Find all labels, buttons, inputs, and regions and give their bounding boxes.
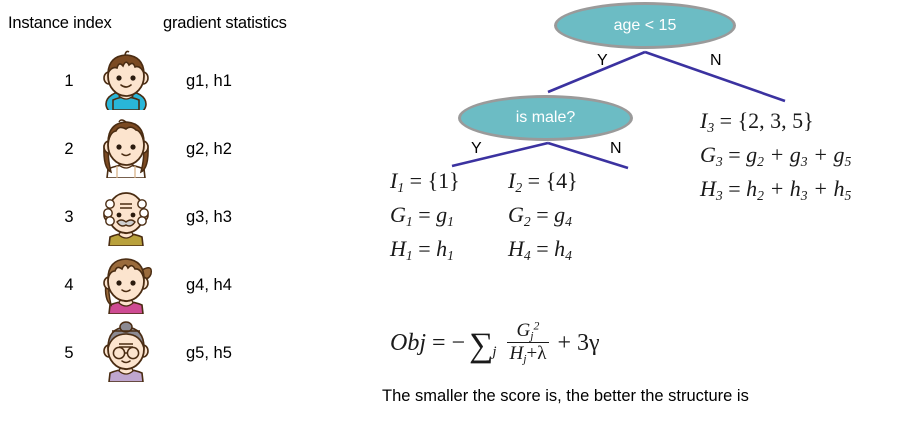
leaf-lhs-sub: 3 — [707, 120, 714, 135]
leaf-line: I2 = {4} — [508, 168, 578, 202]
edge-label-root-no: N — [710, 52, 722, 70]
tree-node-root[interactable]: age < 15 — [554, 2, 736, 49]
leaf-line: G2 = g4 — [508, 202, 578, 236]
table-row: 1 g1, h1 — [0, 48, 360, 112]
leaf-rhs: h2 + h3 + h5 — [746, 176, 851, 201]
woman-avatar — [95, 252, 157, 314]
girl-avatar — [95, 116, 157, 178]
leaf-lhs-sub: 3 — [716, 188, 723, 203]
equals-sign: = — [536, 236, 548, 261]
equals-sign: = — [418, 236, 430, 261]
leaf-lhs-sub: 1 — [397, 180, 404, 195]
edge-label-is-male-yes: Y — [471, 140, 482, 158]
leaf-line: G1 = g1 — [390, 202, 460, 236]
tree-node-root-label: age < 15 — [614, 17, 677, 35]
leaf-lhs-var: G — [508, 202, 524, 227]
leaf-line: I1 = {1} — [390, 168, 460, 202]
leaf-lhs-sub: 3 — [716, 154, 723, 169]
equals-sign: = — [528, 168, 540, 193]
tree-node-is-male[interactable]: is male? — [458, 95, 633, 141]
leaf-lhs-var: H — [700, 176, 716, 201]
table-row: 3 g3, h3 — [0, 184, 360, 248]
fraction-denominator: Hj+λ — [507, 342, 550, 364]
row-gradient-stats: g1, h1 — [186, 72, 232, 91]
objective-equals: = — [432, 330, 446, 357]
row-gradient-stats: g5, h5 — [186, 344, 232, 363]
leaf-lhs-var: H — [508, 236, 524, 261]
leaf-rhs: g2 + g3 + g5 — [746, 142, 851, 167]
leaf-line: G3 = g2 + g3 + g5 — [700, 142, 851, 176]
leaf-rhs: {2, 3, 5} — [738, 108, 814, 133]
caption-text: The smaller the score is, the better the… — [382, 387, 749, 406]
equals-sign: = — [418, 202, 430, 227]
row-index-label: 1 — [52, 72, 86, 91]
row-gradient-stats: g4, h4 — [186, 276, 232, 295]
leaf-lhs-sub: 2 — [515, 180, 522, 195]
leaf-lhs-var: G — [390, 202, 406, 227]
leaf-lhs-sub: 1 — [406, 214, 413, 229]
old-man-avatar — [95, 184, 157, 246]
leaf-lhs-sub: 4 — [524, 248, 531, 263]
leaf-lhs-sub: 1 — [406, 248, 413, 263]
edge-label-root-yes: Y — [597, 52, 608, 70]
leaf-rhs: g1 — [436, 202, 454, 227]
equals-sign: = — [720, 108, 732, 133]
leaf-rhs: h1 — [436, 236, 454, 261]
column-header-gradient-statistics: gradient statistics — [163, 14, 287, 33]
leaf-lhs-var: H — [390, 236, 406, 261]
leaf-line: H4 = h4 — [508, 236, 578, 270]
objective-fraction: Gj2 Hj+λ — [507, 321, 550, 364]
objective-lhs: Obj — [390, 330, 426, 357]
objective-tail: + 3γ — [557, 330, 599, 357]
equals-sign: = — [536, 202, 548, 227]
column-header-instance-index: Instance index — [8, 14, 112, 33]
tree-node-is-male-label: is male? — [516, 109, 576, 127]
leaf-line: I3 = {2, 3, 5} — [700, 108, 851, 142]
summation-symbol: ∑ — [469, 334, 493, 358]
decision-tree-diagram: age < 15 is male? Y N Y N I1 = {1} G1 = … — [360, 0, 920, 421]
objective-minus: − — [452, 330, 466, 357]
edge-label-is-male-no: N — [610, 140, 622, 158]
boy-avatar — [95, 48, 157, 110]
leaf-rhs: g4 — [554, 202, 572, 227]
leaf-line: H3 = h2 + h3 + h5 — [700, 176, 851, 210]
row-gradient-stats: g3, h3 — [186, 208, 232, 227]
leaf-stats-3: I3 = {2, 3, 5} G3 = g2 + g3 + g5 H3 = h2… — [700, 108, 851, 210]
leaf-rhs: {4} — [546, 168, 578, 193]
equals-sign: = — [410, 168, 422, 193]
row-index-label: 2 — [52, 140, 86, 159]
fraction-numerator: Gj2 — [514, 321, 543, 342]
summation-index: j — [492, 344, 496, 361]
row-index-label: 5 — [52, 344, 86, 363]
leaf-lhs-sub: 2 — [524, 214, 531, 229]
leaf-stats-2: I2 = {4} G2 = g4 H4 = h4 — [508, 168, 578, 270]
row-gradient-stats: g2, h2 — [186, 140, 232, 159]
table-row: 4 g4, h4 — [0, 252, 360, 316]
old-woman-avatar — [95, 320, 157, 382]
instance-table: Instance index gradient statistics 1 g1,… — [0, 0, 360, 421]
equals-sign: = — [728, 142, 740, 167]
row-index-label: 3 — [52, 208, 86, 227]
leaf-lhs-var: G — [700, 142, 716, 167]
table-row: 5 g5, h5 — [0, 320, 360, 384]
leaf-stats-1: I1 = {1} G1 = g1 H1 = h1 — [390, 168, 460, 270]
objective-formula: Obj = − ∑ j Gj2 Hj+λ + 3γ — [390, 322, 600, 365]
row-index-label: 4 — [52, 276, 86, 295]
leaf-rhs: {1} — [428, 168, 460, 193]
table-row: 2 g2, h2 — [0, 116, 360, 180]
leaf-rhs: h4 — [554, 236, 572, 261]
leaf-line: H1 = h1 — [390, 236, 460, 270]
equals-sign: = — [728, 176, 740, 201]
